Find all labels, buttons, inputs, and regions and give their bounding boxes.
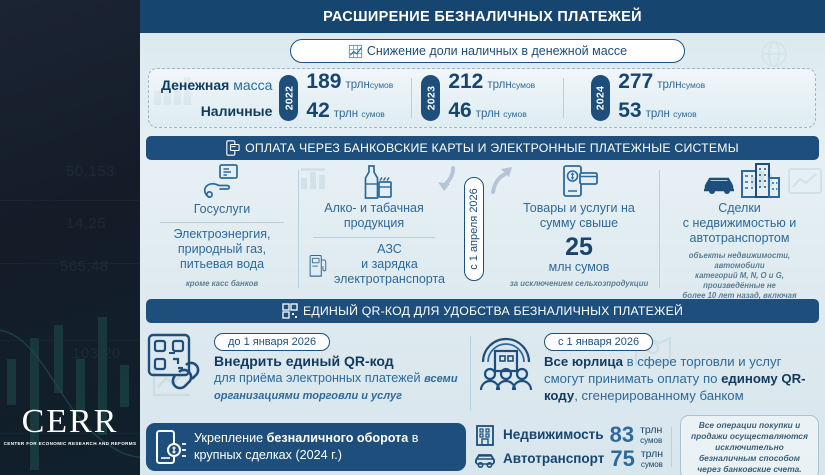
unit-small: сумов — [640, 436, 662, 445]
sidebar-number: 14,25 — [66, 215, 106, 232]
card-real-estate: Сделки с недвижимостью и автотранспортом… — [660, 164, 819, 294]
arrow-down-left-icon — [435, 166, 461, 196]
bottom-banner-text: Укрепление безналичного оборота в крупны… — [194, 430, 457, 464]
money-label-mass-bold: Денежная — [161, 77, 229, 93]
sidebar-number: 565,48 — [60, 258, 109, 275]
card-fuel-title: АЗС и зарядка электротранспорта — [334, 242, 445, 287]
divider — [313, 237, 435, 238]
card-icon-wrap — [303, 164, 445, 200]
card-icon-wrap — [664, 164, 815, 200]
building-icon — [473, 424, 497, 446]
car-building-icon — [698, 162, 782, 200]
money-unit: трлн сумов — [646, 101, 697, 127]
cerr-logo: CERR CENTER FOR ECONOMIC RESEARCH AND RE… — [0, 405, 140, 447]
qr-right-text: Все юрлица в сфере торговли и услуг смог… — [544, 353, 819, 404]
money-unit: трлнсумов — [345, 72, 393, 98]
year-badge-2024: 2024 — [591, 75, 610, 121]
money-mass-value: 189 — [306, 69, 341, 95]
section-bar-qr: ЕДИНЫЙ QR-КОД ДЛЯ УДОБСТВА БЕЗНАЛИЧНЫХ П… — [146, 299, 819, 323]
money-cash-value: 46 — [448, 98, 471, 124]
sidebar-number: 50,153 — [66, 163, 115, 180]
qr-right-text-2: , сгенерированному банком — [574, 388, 744, 403]
mobile-money-icon — [155, 429, 187, 465]
unit-big: трлн — [657, 79, 681, 91]
stat-label-real-estate: Недвижимость — [503, 423, 604, 447]
unit-big: трлн — [476, 108, 500, 120]
money-cash-value: 53 — [618, 98, 641, 124]
unit-small: сумов — [512, 80, 536, 90]
card-goods-amount: 25 — [503, 234, 655, 260]
unit-big: трлн — [345, 79, 369, 91]
money-values-2022: 189трлнсумов 42трлн сумов — [298, 69, 393, 127]
qr-code-icon — [282, 303, 298, 319]
card-icon-wrap — [503, 164, 655, 200]
date-pill-group: с 1 апреля 2026 — [449, 164, 499, 294]
hand-document-icon — [200, 164, 244, 200]
divider — [671, 427, 672, 467]
sidebar-number: 103,20 — [72, 345, 121, 362]
qr-block-right: с 1 января 2026 Все юрлица в сфере торго… — [475, 328, 819, 418]
phone-card-payment-icon — [558, 164, 600, 200]
year-badge-2023: 2023 — [421, 75, 440, 121]
qr-right-text-block: с 1 января 2026 Все юрлица в сфере торго… — [544, 332, 819, 418]
year-label: 2022 — [283, 86, 295, 111]
card-goods-title: Товары и услуги на сумму свыше — [503, 201, 655, 231]
divider — [470, 336, 471, 410]
subtitle-pill: Снижение доли наличных в денежной массе — [290, 39, 685, 63]
unit-big: трлн — [646, 108, 670, 120]
money-unit: трлнсумов — [657, 72, 705, 98]
stat-unit-real-estate: трлнсумов — [640, 425, 662, 446]
logo-mark: CERR — [0, 405, 140, 439]
infographic-page: 50,153 14,25 565,48 103,20 CERR CENTER F… — [0, 0, 825, 475]
card-alcohol-title: Алко- и табачная продукция — [303, 201, 445, 231]
content-area: РАСШИРЕНИЕ БЕЗНАЛИЧНЫХ ПЛАТЕЖЕЙ — [140, 0, 825, 475]
money-unit: трлн сумов — [476, 101, 527, 127]
card-alcohol-title-text: Алко- и табачная продукция — [324, 201, 424, 230]
date-pill-from-jan-2026: с 1 января 2026 — [544, 333, 653, 351]
section-bar-qr-label: ЕДИНЫЙ QR-КОД ДЛЯ УДОБСТВА БЕЗНАЛИЧНЫХ П… — [303, 304, 683, 318]
divider — [411, 78, 412, 118]
year-badge-2022: 2022 — [279, 75, 298, 121]
money-labels: Денежная масса Наличные — [161, 72, 279, 124]
date-pill-april-2026: с 1 апреля 2026 — [464, 177, 484, 281]
card-fuel-row: АЗС и зарядка электротранспорта — [303, 242, 445, 287]
card-gosuslugi-note: кроме касс банков — [150, 279, 294, 289]
unit-big: трлн — [487, 79, 511, 91]
card-alcohol-fuel: Алко- и табачная продукция АЗС и зарядка… — [299, 164, 449, 294]
mobile-card-icon — [226, 140, 240, 156]
qr-row: до 1 января 2026 Внедрить единый QR-код … — [146, 328, 819, 418]
bottom-text-bold: безналичного оборота — [267, 431, 409, 445]
subtitle-text: Снижение доли наличных в денежной массе — [367, 44, 627, 58]
divider — [563, 78, 564, 118]
section-bar-payments: ОПЛАТА ЧЕРЕЗ БАНКОВСКИЕ КАРТЫ И ЭЛЕКТРОН… — [146, 136, 819, 160]
card-icon-wrap — [150, 164, 294, 200]
unit-small: сумов — [641, 460, 663, 469]
qr-right-bold-1: Все юрлица — [544, 354, 623, 369]
card-fuel-title-text: АЗС и зарядка электротранспорта — [334, 242, 445, 286]
unit-big: трлн — [641, 448, 663, 460]
card-gosuslugi-subtitle: Электроэнергия, природный газ, питьевая … — [150, 227, 294, 272]
payment-cards-row: Госуслуги Электроэнергия, природный газ,… — [146, 164, 819, 294]
card-goods-unit: млн сумов — [503, 260, 655, 274]
bottle-cigarettes-icon — [353, 164, 395, 200]
stat-row-transport: Автотранспорт 75 трлнсумов — [473, 447, 663, 471]
unit-big: трлн — [334, 108, 358, 120]
money-label-cash: Наличные — [201, 103, 273, 119]
bottom-stats-list: Недвижимость 83 трлнсумов Автотранспорт — [473, 423, 663, 471]
stat-unit-transport: трлнсумов — [641, 449, 663, 470]
unit-small: сумов — [361, 109, 385, 119]
section-bar-payments-label: ОПЛАТА ЧЕРЕЗ БАНКОВСКИЕ КАРТЫ И ЭЛЕКТРОН… — [245, 141, 739, 155]
ghost-globe-icon — [744, 41, 804, 67]
bottom-text-1: Укрепление — [194, 431, 267, 445]
money-cash-value: 42 — [306, 98, 329, 124]
money-year-group: 2024 277трлнсумов 53трлн сумов — [591, 69, 705, 127]
unit-small: сумов — [682, 80, 706, 90]
money-mass-block: Денежная масса Наличные 2022 189трлнсумо… — [148, 68, 816, 128]
year-label: 2024 — [595, 86, 607, 111]
money-values-2023: 212трлнсумов 46трлн сумов — [440, 69, 535, 127]
card-real-estate-title-text: Сделки с недвижимостью и автотранспортом — [683, 201, 796, 245]
page-title: РАСШИРЕНИЕ БЕЗНАЛИЧНЫХ ПЛАТЕЖЕЙ — [140, 0, 825, 33]
stat-label-transport: Автотранспорт — [503, 447, 604, 471]
card-goods-title-text: Товары и услуги на сумму свыше — [523, 201, 635, 230]
card-gosuslugi-title: Госуслуги — [150, 202, 294, 217]
bottom-note: Все операции покупки и продажи осуществл… — [680, 415, 819, 475]
qr-link-icon — [146, 332, 208, 394]
qr-left-text-block: до 1 января 2026 Внедрить единый QR-код … — [214, 332, 466, 418]
year-label: 2023 — [425, 86, 437, 111]
unit-small: сумов — [503, 109, 527, 119]
card-gosuslugi-subtitle-text: Электроэнергия, природный газ, питьевая … — [173, 227, 270, 271]
unit-small: сумов — [673, 109, 697, 119]
unit-small: сумов — [370, 80, 394, 90]
stat-value-real-estate: 83 — [610, 423, 634, 447]
qr-block-left: до 1 января 2026 Внедрить единый QR-код … — [146, 328, 466, 418]
bottom-highlight-banner: Укрепление безналичного оборота в крупны… — [146, 423, 466, 471]
unit-big: трлн — [640, 424, 662, 436]
sidebar: 50,153 14,25 565,48 103,20 CERR CENTER F… — [0, 0, 140, 475]
logo-subtitle: CENTER FOR ECONOMIC RESEARCH AND REFORMS — [0, 441, 140, 447]
money-mass-value: 212 — [448, 69, 483, 95]
car-icon — [473, 449, 497, 469]
qr-left-rest: для приёма электронных платежей — [214, 371, 424, 385]
money-unit: трлн сумов — [334, 101, 385, 127]
fuel-pump-icon — [309, 243, 328, 287]
money-year-group: Денежная масса Наличные 2022 189трлнсумо… — [149, 69, 393, 127]
card-goods-services: Товары и услуги на сумму свыше 25 млн су… — [499, 164, 659, 294]
chart-grid-icon — [348, 44, 363, 59]
money-values-2024: 277трлнсумов 53трлн сумов — [610, 69, 705, 127]
bottom-stats: Недвижимость 83 трлнсумов Автотранспорт — [473, 421, 819, 473]
card-goods-note: за исключением сельхозпродукции — [503, 279, 655, 289]
card-gosuslugi: Госуслуги Электроэнергия, природный газ,… — [146, 164, 298, 294]
money-mass-value: 277 — [618, 69, 653, 95]
stat-value-transport: 75 — [610, 447, 634, 471]
money-label-mass-rest: масса — [229, 77, 272, 93]
stat-row-real-estate: Недвижимость 83 трлнсумов — [473, 423, 663, 447]
divider — [160, 222, 284, 223]
bank-people-icon — [475, 332, 537, 394]
money-year-group: 2023 212трлнсумов 46трлн сумов — [421, 69, 535, 127]
body-background: Снижение доли наличных в денежной массе … — [140, 33, 825, 475]
qr-left-text: Внедрить единый QR-код для приёма электр… — [214, 353, 466, 404]
date-pill-label: с 1 апреля 2026 — [468, 188, 480, 270]
qr-left-bold: Внедрить единый QR-код — [214, 353, 394, 369]
date-pill-before-jan-2026: до 1 января 2026 — [214, 333, 330, 351]
card-real-estate-title: Сделки с недвижимостью и автотранспортом — [664, 201, 815, 246]
money-unit: трлнсумов — [487, 72, 535, 98]
